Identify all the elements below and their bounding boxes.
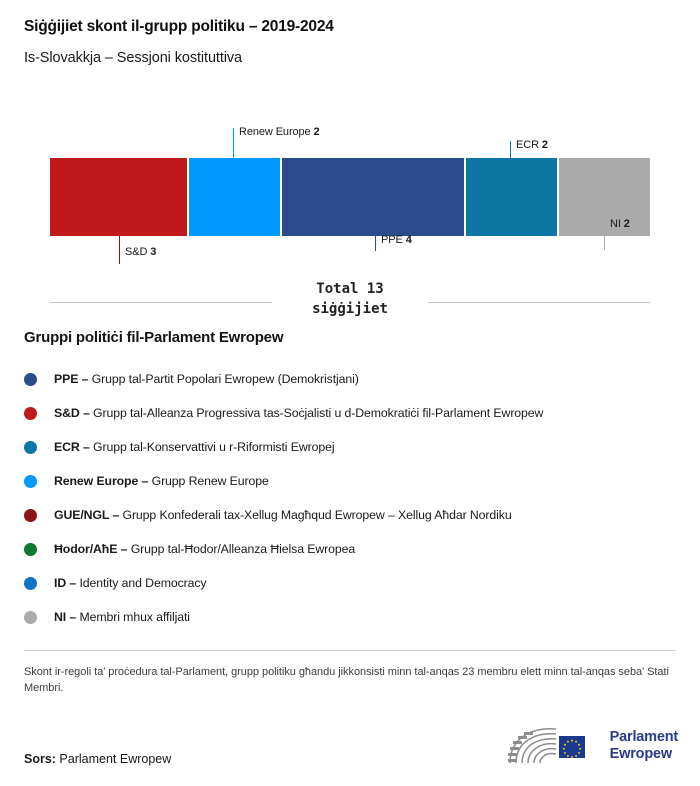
legend: Gruppi politiċi fil-Parlament Ewropew PP… [0,329,700,634]
legend-desc-guengl: Grupp Konfederali tax-Xellug Magħqud Ewr… [119,508,511,522]
source-bar: Sors: Parlament Ewropew [0,724,700,772]
legend-item-guengl[interactable]: GUE/NGL – Grupp Konfederali tax-Xellug M… [24,498,676,532]
total-seats-count: Total 13 [0,279,700,299]
legend-title: Gruppi politiċi fil-Parlament Ewropew [24,329,676,346]
hemicycle-icon [506,724,602,768]
legend-desc-sd: Grupp tal-Alleanza Progressiva tas-Soċja… [90,406,544,420]
legend-dot-sd [24,407,37,420]
chart-header: Siġġijiet skont il-grupp politiku – 2019… [0,0,700,66]
legend-dot-id [24,577,37,590]
legend-dot-ecr [24,441,37,454]
seat-distribution-chart: Renew Europe 2 ECR 2 S&D 3 PPE 4 NI 2 [0,118,700,263]
total-seats-unit: siġġijiet [0,299,700,319]
leader-line-ni [604,236,605,250]
legend-abbr-guengl: GUE/NGL – [54,508,119,522]
callout-renew: Renew Europe 2 [239,126,320,138]
bar-segment-sd[interactable] [50,158,187,236]
legend-dot-greens [24,543,37,556]
logo-line-1: Parlament [610,729,678,746]
callout-renew-label: Renew Europe [239,126,311,138]
bar-segment-ni[interactable] [557,158,650,236]
leader-line-ecr [510,141,511,158]
legend-abbr-sd: S&D – [54,406,90,420]
legend-label-greens: Ħodor/AħE – Grupp tal-Ħodor/Alleanza Ħie… [54,542,355,556]
page-title: Siġġijiet skont il-grupp politiku – 2019… [24,18,676,36]
legend-item-id[interactable]: ID – Identity and Democracy [24,566,676,600]
callout-ni: NI 2 [610,218,630,230]
callout-sd-label: S&D [125,246,147,258]
legend-desc-ecr: Grupp tal-Konservattivi u r-Riformisti E… [90,440,335,454]
total-seats-block: Total 13 siġġijiet [0,279,700,327]
legend-dot-guengl [24,509,37,522]
legend-label-guengl: GUE/NGL – Grupp Konfederali tax-Xellug M… [54,508,512,522]
callout-ni-value: 2 [624,218,630,230]
chart-subtitle: Is-Slovakkja – Sessjoni kostituttiva [24,50,676,66]
legend-abbr-ppe: PPE – [54,372,88,386]
legend-label-sd: S&D – Grupp tal-Alleanza Progressiva tas… [54,406,543,420]
bar-segment-ppe[interactable] [280,158,464,236]
legend-item-ppe[interactable]: PPE – Grupp tal-Partit Popolari Ewropew … [24,362,676,396]
stacked-bar [50,158,650,236]
callout-ecr-value: 2 [542,139,548,151]
legend-dot-ni [24,611,37,624]
legend-desc-renew: Grupp Renew Europe [148,474,268,488]
legend-label-id: ID – Identity and Democracy [54,576,206,590]
callout-sd: S&D 3 [125,246,156,258]
bar-segment-renew[interactable] [187,158,280,236]
callout-renew-value: 2 [314,126,320,138]
legend-label-ni: NI – Membri mhux affiljati [54,610,190,624]
callout-sd-value: 3 [150,246,156,258]
callout-ppe-label: PPE [381,234,403,246]
logo-wordmark: Parlament Ewropew [610,729,678,763]
legend-dot-ppe [24,373,37,386]
legend-item-sd[interactable]: S&D – Grupp tal-Alleanza Progressiva tas… [24,396,676,430]
leader-line-sd [119,236,120,264]
legend-label-ppe: PPE – Grupp tal-Partit Popolari Ewropew … [54,372,359,386]
leader-line-ppe [375,236,376,251]
footnote-text: Skont ir-regoli ta' proċedura tal-Parlam… [24,664,674,696]
source-line: Sors: Parlament Ewropew [24,752,171,766]
callout-ppe-value: 4 [406,234,412,246]
callout-ecr: ECR 2 [516,139,548,151]
leader-line-renew [233,128,234,158]
footnote-divider [24,650,676,651]
legend-desc-greens: Grupp tal-Ħodor/Alleanza Ħielsa Ewropea [127,542,355,556]
bar-segment-ecr[interactable] [464,158,557,236]
european-parliament-logo: Parlament Ewropew [506,724,678,768]
legend-item-renew[interactable]: Renew Europe – Grupp Renew Europe [24,464,676,498]
logo-line-2: Ewropew [610,746,678,763]
legend-item-ecr[interactable]: ECR – Grupp tal-Konservattivi u r-Riform… [24,430,676,464]
callout-ecr-label: ECR [516,139,539,151]
legend-abbr-id: ID – [54,576,76,590]
legend-abbr-greens: Ħodor/AħE – [54,542,127,556]
eu-flag-icon [559,736,585,758]
legend-dot-renew [24,475,37,488]
source-value: Parlament Ewropew [56,752,171,766]
legend-label-ecr: ECR – Grupp tal-Konservattivi u r-Riform… [54,440,334,454]
legend-abbr-ni: NI – [54,610,76,624]
callout-ni-label: NI [610,218,621,230]
legend-abbr-ecr: ECR – [54,440,90,454]
legend-abbr-renew: Renew Europe – [54,474,148,488]
legend-desc-id: Identity and Democracy [76,576,206,590]
source-label: Sors: [24,752,56,766]
legend-item-ni[interactable]: NI – Membri mhux affiljati [24,600,676,634]
total-seats-text: Total 13 siġġijiet [0,279,700,319]
callout-ppe: PPE 4 [381,234,412,246]
legend-desc-ppe: Grupp tal-Partit Popolari Ewropew (Demok… [88,372,358,386]
legend-item-greens[interactable]: Ħodor/AħE – Grupp tal-Ħodor/Alleanza Ħie… [24,532,676,566]
legend-label-renew: Renew Europe – Grupp Renew Europe [54,474,269,488]
legend-desc-ni: Membri mhux affiljati [76,610,190,624]
